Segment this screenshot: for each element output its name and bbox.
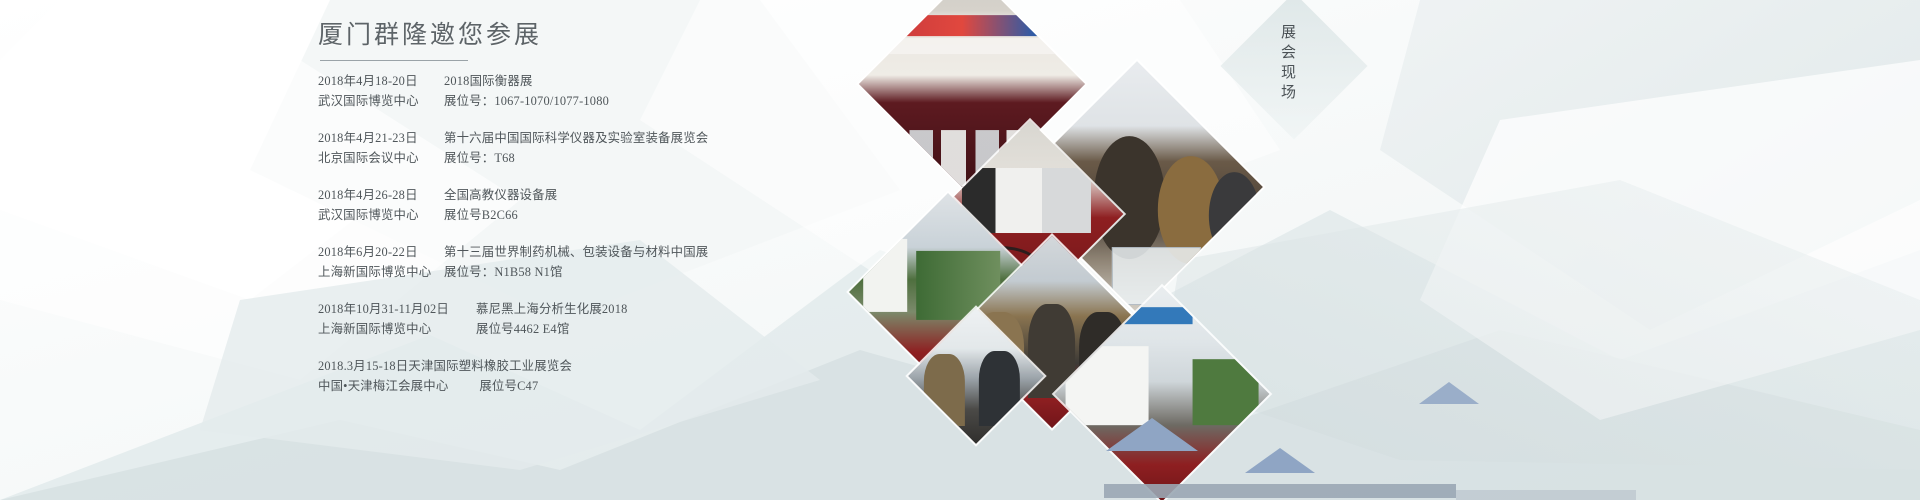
title-underline: [320, 60, 468, 61]
event-venue-line: 北京国际会议中心 展位号：T68: [318, 148, 878, 168]
event-header-line: 2018年4月18-20日 2018国际衡器展: [318, 71, 878, 91]
triangle-decoration: [1245, 448, 1315, 473]
event-item: 2018年4月26-28日 全国高教仪器设备展 武汉国际博览中心 展位号B2C6…: [318, 185, 878, 225]
event-venue: 上海新国际博览中心: [318, 319, 466, 339]
event-date: 2018年4月21-23日: [318, 128, 434, 148]
event-item: 2018年4月18-20日 2018国际衡器展 武汉国际博览中心 展位号：106…: [318, 71, 878, 111]
vertical-caption: 展会现场: [1272, 24, 1298, 104]
event-date: 2018年6月20-22日: [318, 242, 434, 262]
event-venue-line: 上海新国际博览中心 展位号：N1B58 N1馆: [318, 262, 878, 282]
event-item: 2018年6月20-22日 第十三届世界制药机械、包装设备与材料中国展 上海新国…: [318, 242, 878, 282]
event-header-line: 2018.3月15-18日天津国际塑料橡胶工业展览会: [318, 356, 878, 376]
event-name: 第十六届中国国际科学仪器及实验室装备展览会: [444, 128, 708, 148]
exhibition-banner: 厦门群隆邀您参展 2018年4月18-20日 2018国际衡器展 武汉国际博览中…: [0, 0, 1920, 500]
event-venue: 上海新国际博览中心: [318, 262, 434, 282]
event-date: 2018年4月26-28日: [318, 185, 434, 205]
bottom-bar-decoration: [1104, 484, 1456, 498]
event-name: 2018国际衡器展: [444, 71, 533, 91]
event-date: 2018年4月18-20日: [318, 71, 434, 91]
event-venue-line: 武汉国际博览中心 展位号：1067-1070/1077-1080: [318, 91, 878, 111]
event-item: 2018年4月21-23日 第十六届中国国际科学仪器及实验室装备展览会 北京国际…: [318, 128, 878, 168]
triangle-decoration: [1106, 418, 1198, 451]
event-venue: 武汉国际博览中心: [318, 91, 434, 111]
event-item: 2018.3月15-18日天津国际塑料橡胶工业展览会 中国•天津梅江会展中心 展…: [318, 356, 878, 396]
event-date: 2018.3月15-18日天津国际塑料橡胶工业展览会: [318, 356, 572, 376]
triangle-decoration: [1419, 382, 1479, 404]
event-venue: 中国•天津梅江会展中心: [318, 376, 466, 396]
event-venue-line: 上海新国际博览中心 展位号4462 E4馆: [318, 319, 878, 339]
event-name: 慕尼黑上海分析生化展2018: [476, 299, 628, 319]
event-venue-line: 武汉国际博览中心 展位号B2C66: [318, 205, 878, 225]
event-venue: 北京国际会议中心: [318, 148, 434, 168]
event-booth: 展位号：T68: [444, 148, 515, 168]
event-booth: 展位号C47: [479, 379, 538, 393]
event-header-line: 2018年4月26-28日 全国高教仪器设备展: [318, 185, 878, 205]
page-title: 厦门群隆邀您参展: [318, 22, 878, 51]
event-list-panel: 厦门群隆邀您参展 2018年4月18-20日 2018国际衡器展 武汉国际博览中…: [318, 22, 878, 413]
event-booth: 展位号：N1B58 N1馆: [444, 262, 563, 282]
event-name: 第十三届世界制药机械、包装设备与材料中国展: [444, 242, 708, 262]
event-header-line: 2018年10月31-11月02日 慕尼黑上海分析生化展2018: [318, 299, 878, 319]
event-venue-line: 中国•天津梅江会展中心 展位号C47: [318, 376, 878, 396]
event-venue: 武汉国际博览中心: [318, 205, 434, 225]
event-date: 2018年10月31-11月02日: [318, 299, 466, 319]
event-name: 全国高教仪器设备展: [444, 185, 557, 205]
event-item: 2018年10月31-11月02日 慕尼黑上海分析生化展2018 上海新国际博览…: [318, 299, 878, 339]
event-header-line: 2018年6月20-22日 第十三届世界制药机械、包装设备与材料中国展: [318, 242, 878, 262]
bottom-bar-decoration: [1456, 490, 1636, 500]
event-header-line: 2018年4月21-23日 第十六届中国国际科学仪器及实验室装备展览会: [318, 128, 878, 148]
event-booth: 展位号4462 E4馆: [476, 319, 569, 339]
photo-collage: [836, 0, 1196, 416]
event-booth: 展位号：1067-1070/1077-1080: [444, 91, 609, 111]
event-booth: 展位号B2C66: [444, 205, 518, 225]
